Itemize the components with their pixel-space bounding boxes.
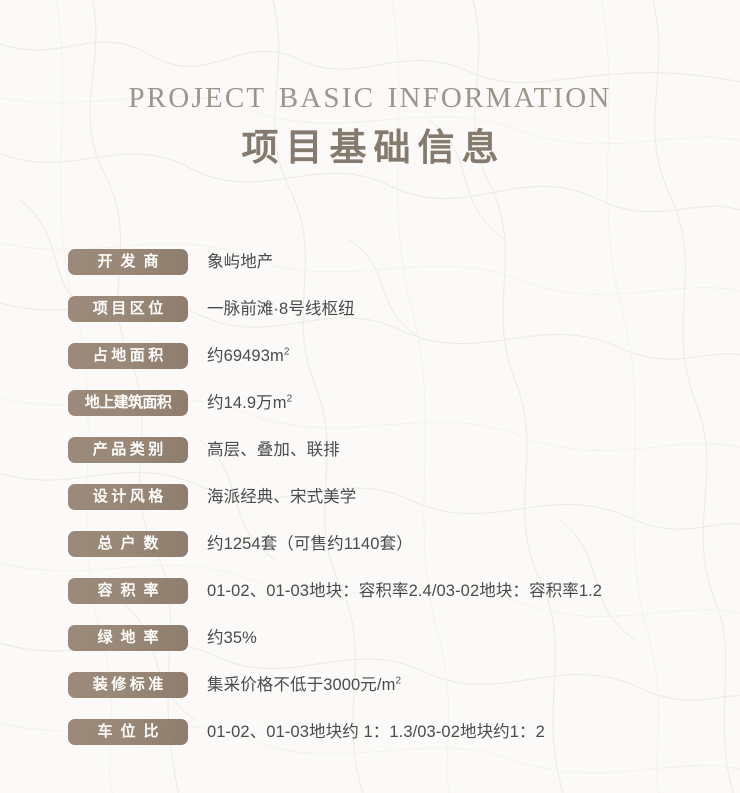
info-value-main: 约14.9万m [207, 394, 287, 412]
info-value-text: 一脉前滩·8号线枢纽 [207, 296, 355, 322]
info-row: 设计风格海派经典、宋式美学 [0, 484, 740, 510]
info-label-badge: 绿地率 [68, 625, 188, 651]
info-value-main: 01-02、01-03地块约 1：1.3/03-02地块约1：2 [207, 723, 545, 741]
page-content: Project Basic Information 项目基础信息 开发商象屿地产… [0, 0, 740, 793]
info-row: 产品类别高层、叠加、联排 [0, 437, 740, 463]
info-label-badge: 项目区位 [68, 296, 188, 322]
info-label-text: 绿地率 [89, 625, 166, 651]
info-label-text: 开发商 [89, 249, 166, 275]
info-row: 开发商象屿地产 [0, 249, 740, 275]
info-label-badge: 产品类别 [68, 437, 188, 463]
info-value-main: 约1254套（可售约1140套） [207, 535, 413, 553]
info-value-text: 约1254套（可售约1140套） [207, 531, 413, 557]
info-row: 装修标准集采价格不低于3000元/m2 [0, 672, 740, 698]
info-value-text: 01-02、01-03地块约 1：1.3/03-02地块约1：2 [207, 719, 545, 745]
info-row: 地上建筑面积约14.9万m2 [0, 390, 740, 416]
info-label-badge: 设计风格 [68, 484, 188, 510]
info-label-badge: 容积率 [68, 578, 188, 604]
info-value-text: 约14.9万m2 [207, 390, 292, 416]
info-label-text: 地上建筑面积 [85, 390, 171, 416]
info-label-text: 容积率 [89, 578, 166, 604]
info-label-text: 总户数 [89, 531, 166, 557]
info-value-main: 海派经典、宋式美学 [207, 488, 356, 506]
info-value-text: 01-02、01-03地块：容积率2.4/03-02地块：容积率1.2 [207, 578, 602, 604]
info-value-main: 象屿地产 [207, 253, 273, 271]
info-value-main: 约35% [207, 629, 257, 647]
info-row: 占地面积约69493m2 [0, 343, 740, 369]
info-value-text: 高层、叠加、联排 [207, 437, 340, 463]
info-value-main: 一脉前滩·8号线枢纽 [207, 300, 355, 318]
page-title-english: Project Basic Information [0, 68, 740, 118]
info-value-main: 01-02、01-03地块：容积率2.4/03-02地块：容积率1.2 [207, 582, 602, 600]
info-label-text: 项目区位 [89, 296, 167, 322]
info-label-text: 占地面积 [89, 343, 167, 369]
info-label-badge: 地上建筑面积 [68, 390, 188, 416]
page-title-chinese: 项目基础信息 [0, 126, 740, 172]
info-label-text: 车位比 [89, 719, 166, 745]
info-value-main: 约69493m [207, 347, 284, 365]
info-value-text: 海派经典、宋式美学 [207, 484, 356, 510]
info-value-superscript: 2 [395, 676, 401, 687]
info-value-text: 象屿地产 [207, 249, 273, 275]
info-label-text: 设计风格 [89, 484, 167, 510]
info-row: 容积率01-02、01-03地块：容积率2.4/03-02地块：容积率1.2 [0, 578, 740, 604]
info-value-text: 约35% [207, 625, 257, 651]
info-row: 总户数约1254套（可售约1140套） [0, 531, 740, 557]
info-value-main: 高层、叠加、联排 [207, 441, 340, 459]
page-root: Project Basic Information 项目基础信息 开发商象屿地产… [0, 0, 740, 793]
info-row: 项目区位一脉前滩·8号线枢纽 [0, 296, 740, 322]
info-value-text: 集采价格不低于3000元/m2 [207, 672, 401, 698]
info-row: 绿地率约35% [0, 625, 740, 651]
project-info-list: 开发商象屿地产项目区位一脉前滩·8号线枢纽占地面积约69493m2地上建筑面积约… [0, 249, 740, 766]
info-value-main: 集采价格不低于3000元/m [207, 676, 395, 694]
info-label-badge: 占地面积 [68, 343, 188, 369]
info-label-text: 产品类别 [89, 437, 167, 463]
info-label-badge: 车位比 [68, 719, 188, 745]
info-row: 车位比01-02、01-03地块约 1：1.3/03-02地块约1：2 [0, 719, 740, 745]
info-value-superscript: 2 [284, 347, 290, 358]
info-label-text: 装修标准 [89, 672, 167, 698]
info-label-badge: 开发商 [68, 249, 188, 275]
info-label-badge: 装修标准 [68, 672, 188, 698]
info-value-superscript: 2 [287, 394, 293, 405]
page-title-block: Project Basic Information 项目基础信息 [0, 68, 740, 172]
info-value-text: 约69493m2 [207, 343, 290, 369]
info-label-badge: 总户数 [68, 531, 188, 557]
